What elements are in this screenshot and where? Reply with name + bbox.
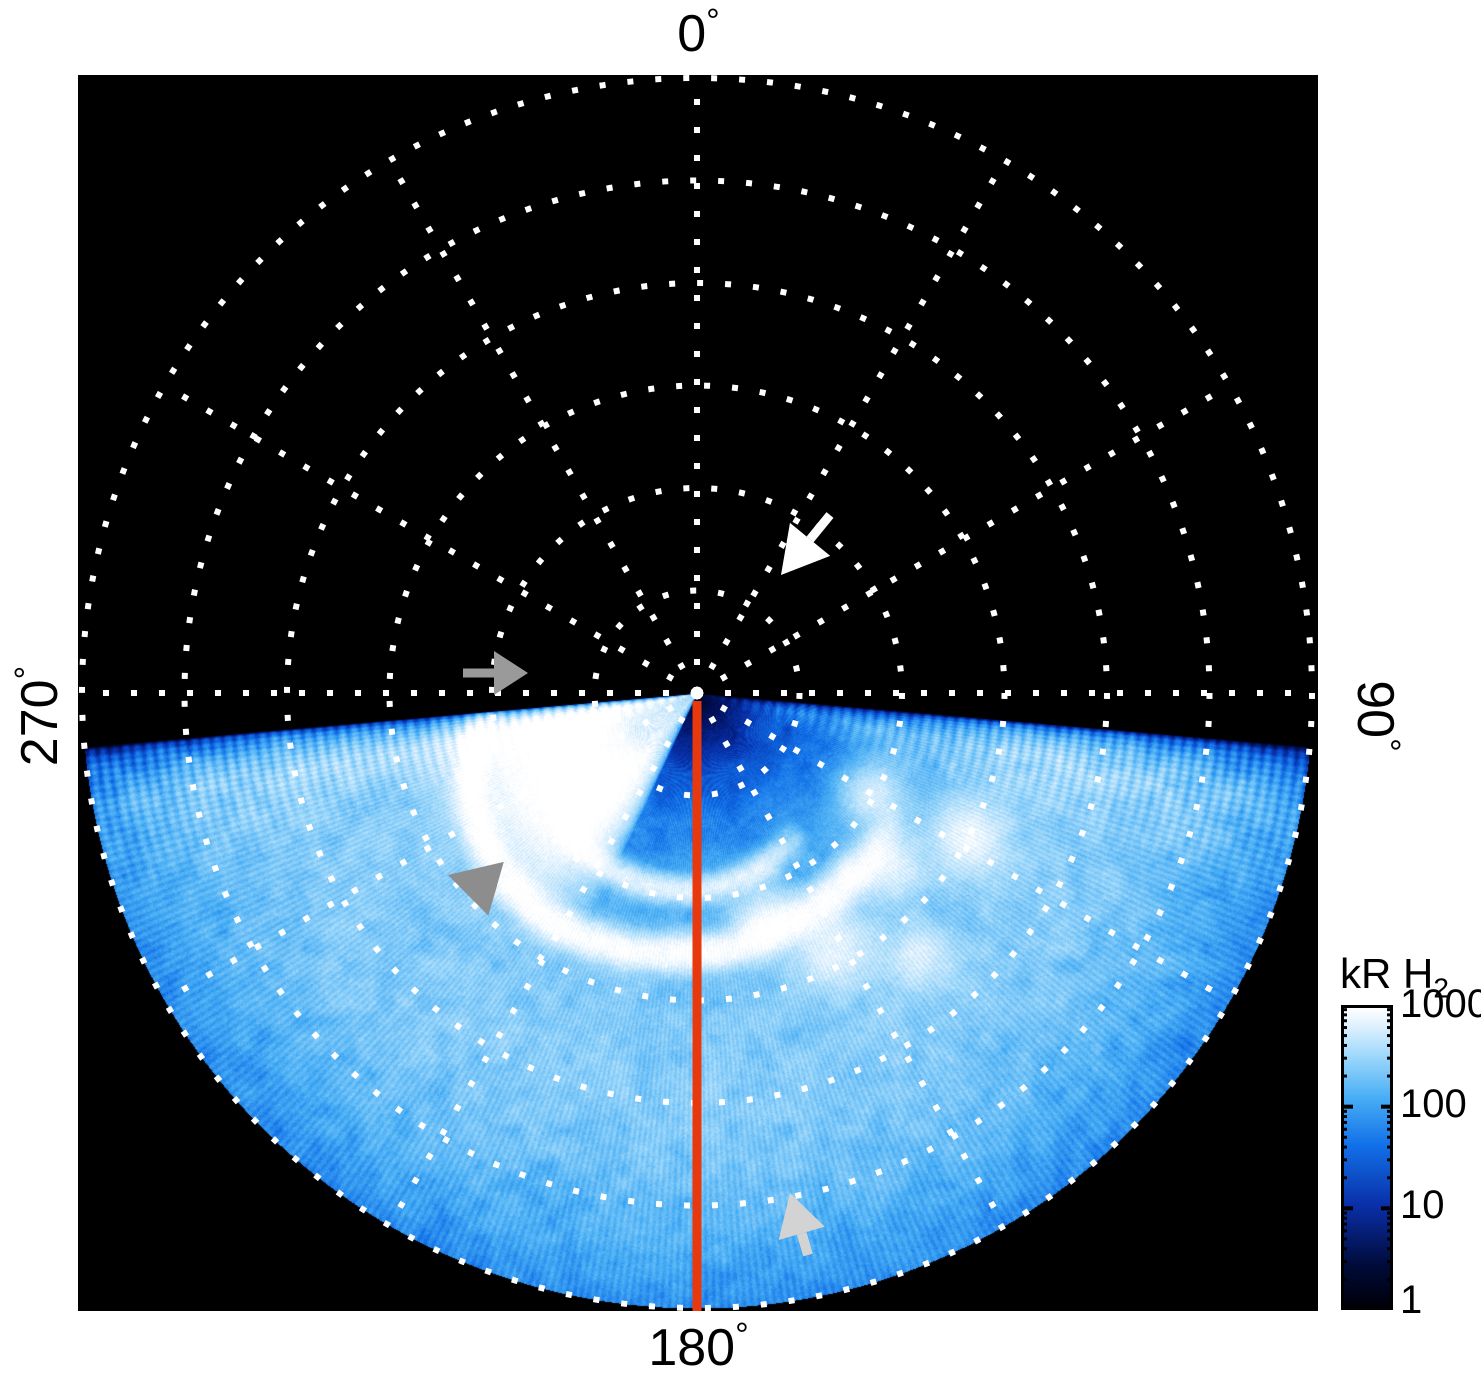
colorbar-tick-label-10: 10 (1400, 1185, 1445, 1225)
gray-arrow-inner-feature-icon (463, 651, 528, 695)
degree-symbol-right: ° (1368, 738, 1406, 752)
annotation-overlay (78, 75, 1318, 1311)
axis-label-90-value: 90 (1346, 680, 1404, 738)
degree-symbol-bottom: ° (735, 1317, 749, 1355)
white-arrow-dusk-emission-icon (781, 515, 830, 575)
axis-label-0-value: 0 (677, 5, 706, 63)
gray-arrow-main-oval-icon (448, 862, 504, 916)
axis-label-270-value: 270 (11, 679, 69, 766)
figure-root: 0° 180° 270° 90° kR H2 1000 100 10 1 (0, 0, 1481, 1386)
axis-label-270-deg: 270° (14, 616, 66, 816)
gray-arrow-diffuse-emission-icon (779, 1193, 825, 1255)
degree-symbol-top: ° (706, 3, 720, 41)
colorbar-tick-label-1: 1 (1400, 1280, 1422, 1320)
axis-label-180-deg: 180° (0, 1322, 1397, 1374)
axis-label-0-deg: 0° (0, 8, 1397, 60)
polar-plot-panel (78, 75, 1318, 1311)
axis-label-180-value: 180 (648, 1319, 735, 1377)
axis-label-90-deg: 90° (1349, 616, 1401, 816)
degree-symbol-left: ° (9, 666, 47, 680)
colorbar-ticks (1341, 1005, 1393, 1310)
colorbar-tick-label-1000: 1000 (1400, 984, 1481, 1024)
colorbar-tick-label-100: 100 (1400, 1084, 1467, 1124)
